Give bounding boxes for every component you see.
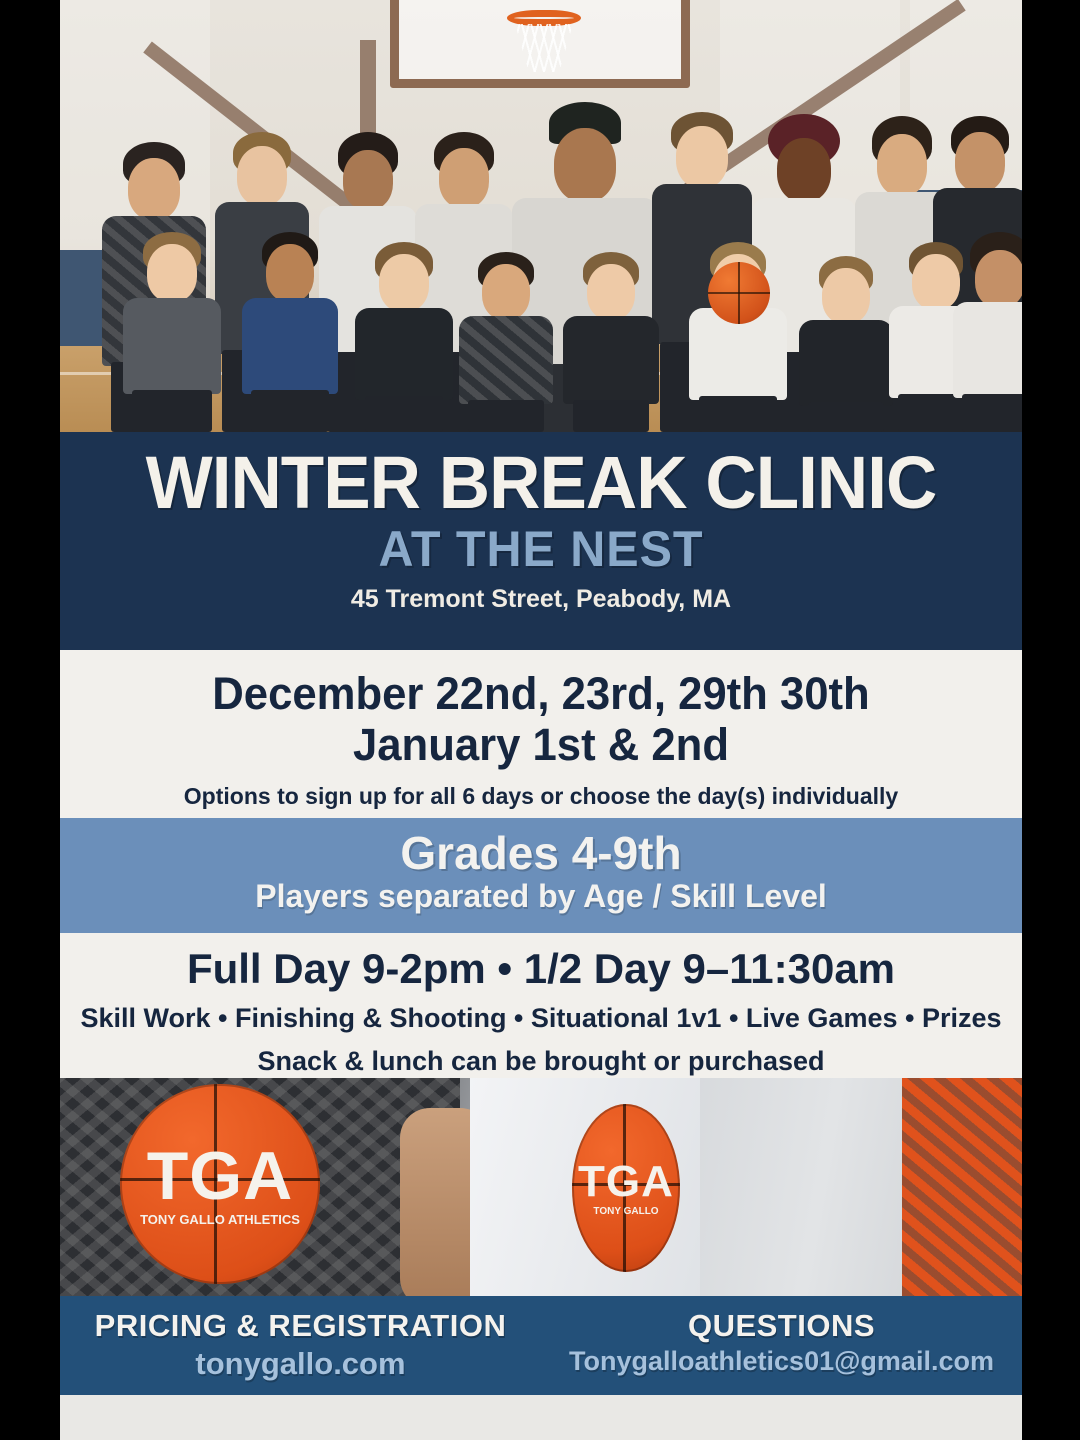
team-photo xyxy=(60,0,1022,432)
schedule-times: Full Day 9-2pm • 1/2 Day 9–11:30am xyxy=(60,945,1022,993)
dates-line-2: January 1st & 2nd xyxy=(74,719,1007,770)
questions-email-link[interactable]: Tonygalloathletics01@gmail.com xyxy=(541,1346,1022,1377)
pricing-website-link[interactable]: tonygallo.com xyxy=(60,1346,541,1382)
grades-section: Grades 4-9th Players separated by Age / … xyxy=(60,818,1022,933)
footer-contact: PRICING & REGISTRATION tonygallo.com QUE… xyxy=(60,1296,1022,1395)
jersey-photo: TGA TONY GALLO ATHLETICS TGA TONY GALLO xyxy=(60,1078,1022,1296)
tga-logo-mark-2: TGA xyxy=(578,1160,674,1204)
dates-section: December 22nd, 23rd, 29th 30th January 1… xyxy=(60,650,1022,818)
tga-logo-sub: TONY GALLO ATHLETICS xyxy=(140,1213,300,1226)
questions-column: QUESTIONS Tonygalloathletics01@gmail.com xyxy=(541,1296,1022,1395)
bottom-strip xyxy=(60,1395,1022,1440)
title-banner: WINTER BREAK CLINIC AT THE NEST 45 Tremo… xyxy=(60,432,1022,650)
tga-logo-left: TGA TONY GALLO ATHLETICS xyxy=(120,1084,320,1284)
signup-options-note: Options to sign up for all 6 days or cho… xyxy=(60,783,1022,810)
pricing-heading: PRICING & REGISTRATION xyxy=(60,1308,541,1344)
basketball xyxy=(708,262,770,324)
basketball-rim xyxy=(507,10,581,26)
flyer-poster: WINTER BREAK CLINIC AT THE NEST 45 Tremo… xyxy=(60,0,1022,1440)
tga-logo-sub-2: TONY GALLO xyxy=(593,1207,658,1217)
questions-heading: QUESTIONS xyxy=(541,1308,1022,1344)
grades-range: Grades 4-9th xyxy=(60,826,1022,880)
dates-line-1: December 22nd, 23rd, 29th 30th xyxy=(74,668,1007,719)
tga-logo-right: TGA TONY GALLO xyxy=(572,1104,680,1272)
schedule-section: Full Day 9-2pm • 1/2 Day 9–11:30am Skill… xyxy=(60,933,1022,1078)
pricing-column: PRICING & REGISTRATION tonygallo.com xyxy=(60,1296,541,1395)
jersey-right-edge xyxy=(902,1078,1022,1296)
tga-logo-mark: TGA xyxy=(147,1142,294,1210)
page-subtitle: AT THE NEST xyxy=(74,518,1007,581)
grades-note: Players separated by Age / Skill Level xyxy=(60,878,1022,915)
food-note: Snack & lunch can be brought or purchase… xyxy=(60,1046,1022,1077)
venue-address: 45 Tremont Street, Peabody, MA xyxy=(60,585,1022,614)
page-title: WINTER BREAK CLINIC xyxy=(79,448,1003,518)
activities-list: Skill Work • Finishing & Shooting • Situ… xyxy=(60,1003,1022,1034)
